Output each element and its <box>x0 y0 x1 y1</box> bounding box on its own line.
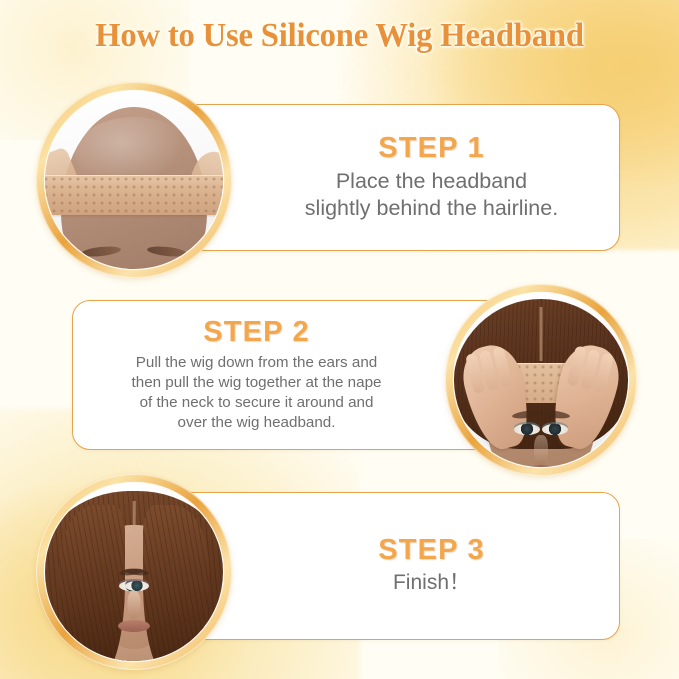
step-1-label: STEP 1 <box>378 133 485 163</box>
step-1-photo <box>45 91 223 269</box>
step-3-body-line: Finish！ <box>393 570 470 596</box>
step-1-photo-frame <box>36 82 232 278</box>
step-2-photo-frame <box>445 284 637 476</box>
step-3-body: Finish！ <box>393 570 470 596</box>
step-3-photo-frame <box>36 474 232 670</box>
hair-part-line <box>540 307 543 361</box>
hands-placing-wig-over-headband-image <box>454 293 628 467</box>
mannequin-head-with-silicone-headband-image <box>45 91 223 269</box>
eye-right <box>542 424 568 435</box>
step-2-label: STEP 2 <box>203 317 310 347</box>
step-2-photo <box>454 293 628 467</box>
step-1-body-line: Place the headband <box>305 168 558 195</box>
page-title: How to Use Silicone Wig Headband <box>14 17 666 55</box>
silicone-headband <box>45 175 223 215</box>
step-card-3-content: STEP 3 Finish！ <box>256 493 607 639</box>
infographic-poster: How to Use Silicone Wig Headband STEP 1 … <box>0 0 679 679</box>
step-2-body-line: of the neck to secure it around and <box>132 393 382 413</box>
step-card-1-content: STEP 1 Place the headband slightly behin… <box>256 105 607 250</box>
step-3-label: STEP 3 <box>378 535 485 565</box>
step-1-body: Place the headband slightly behind the h… <box>305 168 558 222</box>
step-2-body-line: then pull the wig together at the nape <box>132 373 382 393</box>
hair-part-line <box>133 501 136 531</box>
step-card-2-content: STEP 2 Pull the wig down from the ears a… <box>87 301 426 449</box>
lips <box>118 620 150 632</box>
step-2-body: Pull the wig down from the ears and then… <box>132 353 382 433</box>
step-1-body-line: slightly behind the hairline. <box>305 195 558 222</box>
eye-left <box>514 424 540 435</box>
finished-wig-look-on-mannequin-image <box>45 483 223 661</box>
wig-hair-front-right <box>143 505 209 661</box>
step-2-body-line: Pull the wig down from the ears and <box>132 353 382 373</box>
eye-right <box>125 581 149 591</box>
nose <box>534 435 548 465</box>
wig-hair-front-left <box>59 505 125 661</box>
nose <box>128 591 141 619</box>
step-3-photo <box>45 483 223 661</box>
step-2-body-line: over the wig headband. <box>132 413 382 433</box>
